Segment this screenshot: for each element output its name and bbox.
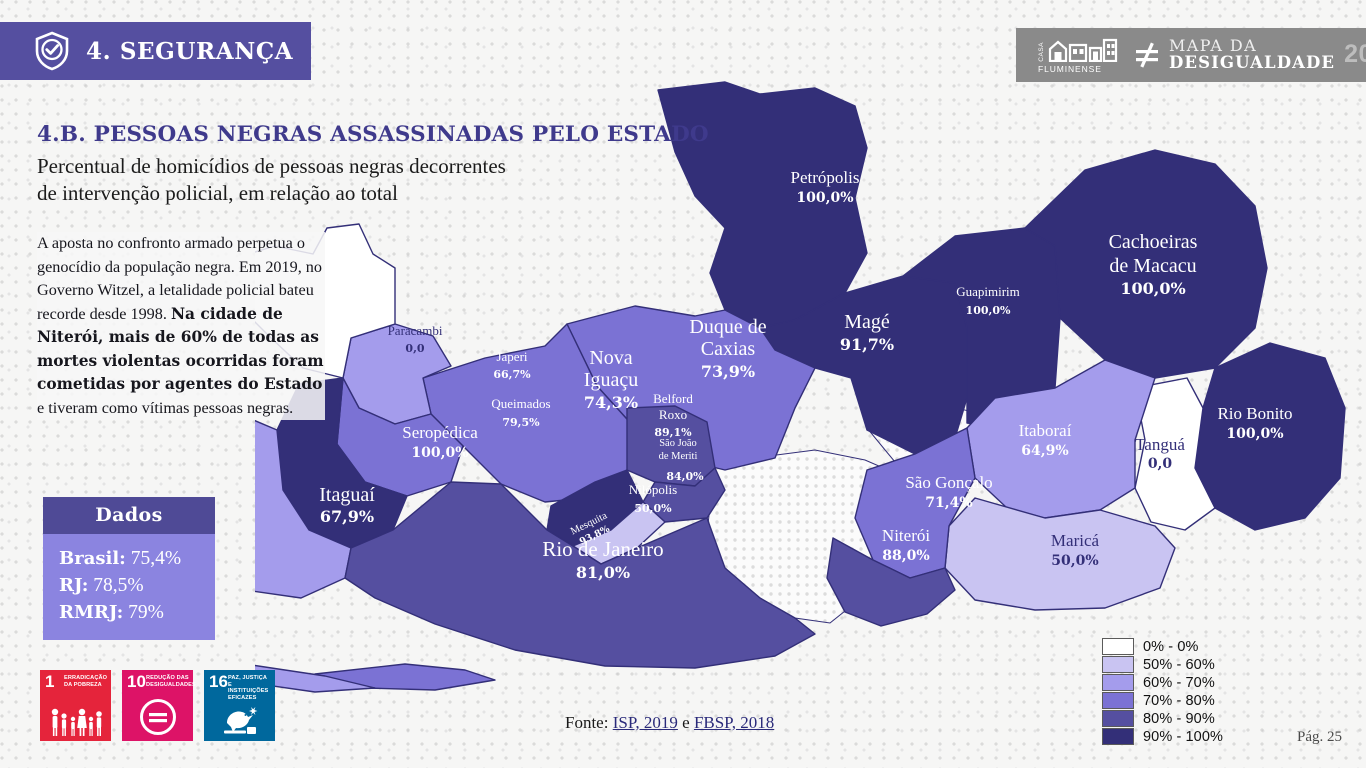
label-itaguai: Itaguaí 67,9% bbox=[319, 484, 375, 526]
shield-check-icon bbox=[34, 31, 70, 71]
mapa-desigualdade-logo: MAPA DA DESIGUALDADE 2020 bbox=[1134, 38, 1366, 71]
label-mage: Magé 91,7% bbox=[840, 311, 894, 354]
svg-text:100,0%: 100,0% bbox=[411, 445, 468, 461]
legend-swatch-1 bbox=[1102, 656, 1134, 673]
ods-number-10: 10 bbox=[127, 673, 146, 690]
svg-text:São João: São João bbox=[659, 438, 697, 449]
svg-text:100,0%: 100,0% bbox=[1226, 426, 1283, 442]
svg-text:Paracambi: Paracambi bbox=[388, 323, 443, 338]
svg-text:0,0: 0,0 bbox=[1148, 456, 1173, 472]
legend-row[interactable]: 90% - 100% bbox=[1102, 728, 1223, 745]
source-prefix: Fonte: bbox=[565, 713, 613, 732]
not-equal-icon bbox=[1134, 41, 1160, 69]
svg-text:Japeri: Japeri bbox=[496, 349, 527, 364]
houses-icon bbox=[1048, 36, 1118, 62]
svg-text:71,4%: 71,4% bbox=[925, 495, 972, 511]
svg-text:Belford: Belford bbox=[653, 391, 693, 406]
narrative-part2: e tiveram como vítimas pessoas negras. bbox=[37, 399, 293, 417]
legend-label-2: 60% - 70% bbox=[1143, 675, 1215, 691]
ods-caption-16: PAZ, JUSTIÇA E INSTITUIÇÕES EFICAZES bbox=[228, 675, 272, 701]
page-subtitle: Percentual de homicídios de pessoas negr… bbox=[37, 153, 697, 207]
source-link-fbsp[interactable]: FBSP, 2018 bbox=[694, 713, 774, 732]
brand-bar: CASA FLUMINENSE bbox=[1016, 28, 1366, 82]
ods-icons-row: 1 ERRADICAÇÃO DA POBREZA 10 REDUÇÃO DAS … bbox=[40, 670, 275, 741]
map-legend: 0% - 0% 50% - 60% 60% - 70% 70% - 80% 80… bbox=[1102, 638, 1223, 746]
casa-word: CASA bbox=[1038, 42, 1045, 62]
svg-text:Nilópolis: Nilópolis bbox=[629, 482, 677, 497]
svg-text:Duque de: Duque de bbox=[689, 316, 766, 338]
page-title: 4.B. PESSOAS NEGRAS ASSASSINADAS PELO ES… bbox=[37, 122, 709, 147]
svg-text:Roxo: Roxo bbox=[659, 407, 687, 422]
dados-value-rj: 78,5% bbox=[93, 575, 143, 596]
mapa-line2: DESIGUALDADE bbox=[1169, 55, 1335, 72]
ods-icon-1: 1 ERRADICAÇÃO DA POBREZA bbox=[40, 670, 111, 741]
legend-label-4: 80% - 90% bbox=[1143, 711, 1215, 727]
svg-text:de Meriti: de Meriti bbox=[659, 451, 698, 462]
mapa-text: MAPA DA DESIGUALDADE bbox=[1169, 38, 1335, 71]
fluminense-word: FLUMINENSE bbox=[1038, 64, 1102, 74]
subtitle-line1: Percentual de homicídios de pessoas negr… bbox=[37, 154, 506, 178]
ods-icon-10: 10 REDUÇÃO DAS DESIGUALDADES bbox=[122, 670, 193, 741]
dados-row-rmrj: RMRJ: 79% bbox=[59, 599, 215, 626]
legend-swatch-2 bbox=[1102, 674, 1134, 691]
legend-label-3: 70% - 80% bbox=[1143, 693, 1215, 709]
equals-circle-icon bbox=[122, 697, 193, 737]
dove-gavel-icon bbox=[204, 703, 275, 737]
legend-label-1: 50% - 60% bbox=[1143, 657, 1215, 673]
svg-text:Itaboraí: Itaboraí bbox=[1019, 421, 1072, 440]
ods-icon-16: 16 PAZ, JUSTIÇA E INSTITUIÇÕES EFICAZES bbox=[204, 670, 275, 741]
svg-text:Seropédica: Seropédica bbox=[402, 423, 478, 442]
svg-text:79,5%: 79,5% bbox=[502, 416, 540, 429]
svg-text:Cachoeiras: Cachoeiras bbox=[1109, 231, 1198, 253]
svg-text:50,0%: 50,0% bbox=[1051, 553, 1098, 569]
label-nova-iguacu: Nova Iguaçu 74,3% bbox=[584, 347, 638, 412]
svg-text:Queimados: Queimados bbox=[491, 396, 550, 411]
svg-text:50,0%: 50,0% bbox=[634, 502, 672, 515]
svg-text:São Gonçalo: São Gonçalo bbox=[905, 473, 992, 492]
svg-text:Caxias: Caxias bbox=[701, 338, 756, 360]
dados-key-brasil: Brasil: bbox=[59, 548, 126, 569]
svg-text:88,0%: 88,0% bbox=[882, 548, 929, 564]
svg-text:Guapimirim: Guapimirim bbox=[956, 284, 1020, 299]
svg-text:91,7%: 91,7% bbox=[840, 335, 894, 354]
svg-text:Magé: Magé bbox=[844, 311, 890, 333]
dados-key-rj: RJ: bbox=[59, 575, 88, 596]
source-link-isp[interactable]: ISP, 2019 bbox=[613, 713, 678, 732]
svg-text:100,0%: 100,0% bbox=[796, 190, 853, 206]
legend-label-0: 0% - 0% bbox=[1143, 639, 1199, 655]
dados-title: Dados bbox=[43, 497, 215, 534]
source-join: e bbox=[678, 713, 694, 732]
section-banner: 4. SEGURANÇA bbox=[0, 22, 311, 80]
ods-caption-1: ERRADICAÇÃO DA POBREZA bbox=[64, 675, 108, 688]
dados-value-rmrj: 79% bbox=[128, 602, 164, 623]
svg-text:74,3%: 74,3% bbox=[584, 393, 638, 412]
svg-text:Itaguaí: Itaguaí bbox=[319, 484, 375, 506]
source-line: Fonte: ISP, 2019 e FBSP, 2018 bbox=[565, 713, 774, 733]
legend-row[interactable]: 0% - 0% bbox=[1102, 638, 1223, 655]
narrative-paragraph: A aposta no confronto armado perpetua o … bbox=[37, 232, 325, 420]
svg-text:Niterói: Niterói bbox=[882, 526, 930, 545]
svg-text:de Macacu: de Macacu bbox=[1109, 255, 1196, 277]
legend-row[interactable]: 50% - 60% bbox=[1102, 656, 1223, 673]
legend-row[interactable]: 60% - 70% bbox=[1102, 674, 1223, 691]
svg-text:Maricá: Maricá bbox=[1051, 531, 1100, 550]
subtitle-line2: de intervenção policial, em relação ao t… bbox=[37, 181, 398, 205]
svg-text:64,9%: 64,9% bbox=[1021, 443, 1068, 459]
svg-text:67,9%: 67,9% bbox=[320, 507, 374, 526]
legend-row[interactable]: 70% - 80% bbox=[1102, 692, 1223, 709]
ods-number-1: 1 bbox=[45, 673, 54, 690]
legend-row[interactable]: 80% - 90% bbox=[1102, 710, 1223, 727]
svg-text:Nova: Nova bbox=[589, 347, 632, 369]
ods-number-16: 16 bbox=[209, 673, 228, 690]
dados-body: Brasil: 75,4% RJ: 78,5% RMRJ: 79% bbox=[43, 534, 215, 640]
svg-text:Rio de Janeiro: Rio de Janeiro bbox=[542, 537, 663, 561]
svg-text:73,9%: 73,9% bbox=[701, 362, 755, 381]
svg-text:66,7%: 66,7% bbox=[493, 368, 531, 381]
title-block: 4.B. PESSOAS NEGRAS ASSASSINADAS PELO ES… bbox=[37, 122, 709, 207]
dados-row-brasil: Brasil: 75,4% bbox=[59, 545, 215, 572]
svg-text:100,0%: 100,0% bbox=[1120, 279, 1185, 298]
dados-key-rmrj: RMRJ: bbox=[59, 602, 123, 623]
svg-text:Iguaçu: Iguaçu bbox=[584, 369, 638, 391]
dados-row-rj: RJ: 78,5% bbox=[59, 572, 215, 599]
svg-text:0,0: 0,0 bbox=[405, 342, 424, 355]
label-cachoeiras-de-macacu: Cachoeiras de Macacu 100,0% bbox=[1109, 231, 1198, 298]
page-number: Pág. 25 bbox=[1297, 729, 1342, 746]
casa-fluminense-logo: CASA FLUMINENSE bbox=[1038, 36, 1118, 74]
dados-card: Dados Brasil: 75,4% RJ: 78,5% RMRJ: 79% bbox=[43, 497, 215, 640]
svg-text:81,0%: 81,0% bbox=[576, 563, 630, 582]
svg-text:Tanguá: Tanguá bbox=[1135, 435, 1185, 454]
people-family-icon bbox=[40, 707, 111, 737]
legend-label-5: 90% - 100% bbox=[1143, 729, 1223, 745]
svg-text:Petrópolis: Petrópolis bbox=[791, 168, 860, 187]
svg-text:100,0%: 100,0% bbox=[966, 304, 1011, 317]
legend-swatch-0 bbox=[1102, 638, 1134, 655]
ods-caption-10: REDUÇÃO DAS DESIGUALDADES bbox=[146, 675, 190, 688]
section-title: 4. SEGURANÇA bbox=[86, 38, 293, 65]
dados-value-brasil: 75,4% bbox=[131, 548, 181, 569]
legend-swatch-5 bbox=[1102, 728, 1134, 745]
legend-swatch-4 bbox=[1102, 710, 1134, 727]
svg-text:Rio Bonito: Rio Bonito bbox=[1217, 404, 1292, 423]
legend-swatch-3 bbox=[1102, 692, 1134, 709]
brand-year: 2020 bbox=[1344, 40, 1366, 69]
